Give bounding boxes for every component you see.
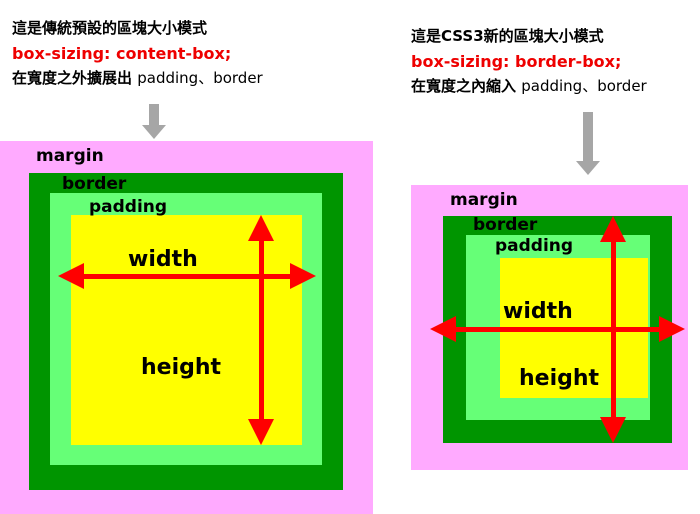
height-label: height <box>519 368 599 390</box>
left-caption-line-3-bold: 在寬度之外擴展出 <box>12 69 132 87</box>
height-label: height <box>141 357 221 379</box>
width-arrow-head-right <box>290 263 316 289</box>
padding-label: padding <box>495 238 573 255</box>
width-arrow-head-right <box>659 316 685 342</box>
width-arrow-head-left <box>430 316 456 342</box>
right-caption-line-1: 這是CSS3新的區塊大小模式 <box>411 24 647 49</box>
width-arrow-line <box>456 327 659 332</box>
left-caption-line-3: 在寬度之外擴展出 padding、border <box>12 66 263 91</box>
padding-label: padding <box>89 199 167 216</box>
width-label: width <box>503 301 573 323</box>
right-caption-line-3: 在寬度之內縮入 padding、border <box>411 74 647 99</box>
left-caption-code: box-sizing: content-box; <box>12 41 263 66</box>
width-arrow-head-left <box>58 263 84 289</box>
border-label: border <box>473 217 537 234</box>
left-caption-line-3-light: padding、border <box>137 69 262 87</box>
right-caption-block: 這是CSS3新的區塊大小模式 box-sizing: border-box; 在… <box>411 24 647 99</box>
down-arrow-icon-right <box>576 112 600 148</box>
right-caption-line-3-light: padding、border <box>521 77 646 95</box>
height-arrow-head-up <box>248 215 274 241</box>
height-arrow-head-down <box>600 417 626 443</box>
down-arrow-head <box>142 125 166 139</box>
border-label: border <box>62 176 126 193</box>
down-arrow-shaft <box>583 112 593 162</box>
right-caption-code: box-sizing: border-box; <box>411 49 647 74</box>
left-caption-line-1: 這是傳統預設的區塊大小模式 <box>12 16 263 41</box>
border-box-diagram: margin border padding width height <box>411 185 688 470</box>
margin-label: margin <box>450 192 518 209</box>
height-arrow-line <box>611 242 616 418</box>
content-box-diagram: margin border padding width height <box>0 141 373 514</box>
left-caption-block: 這是傳統預設的區塊大小模式 box-sizing: content-box; 在… <box>12 16 263 91</box>
height-arrow-line <box>259 241 264 419</box>
height-arrow-head-up <box>600 216 626 242</box>
height-arrow-head-down <box>248 419 274 445</box>
right-caption-line-3-bold: 在寬度之內縮入 <box>411 77 516 95</box>
width-label: width <box>128 249 198 271</box>
down-arrow-head <box>576 161 600 175</box>
down-arrow-shaft <box>149 104 159 126</box>
down-arrow-icon-left <box>142 104 166 140</box>
margin-label: margin <box>36 148 104 165</box>
diagram-canvas: 這是傳統預設的區塊大小模式 box-sizing: content-box; 在… <box>0 0 700 514</box>
